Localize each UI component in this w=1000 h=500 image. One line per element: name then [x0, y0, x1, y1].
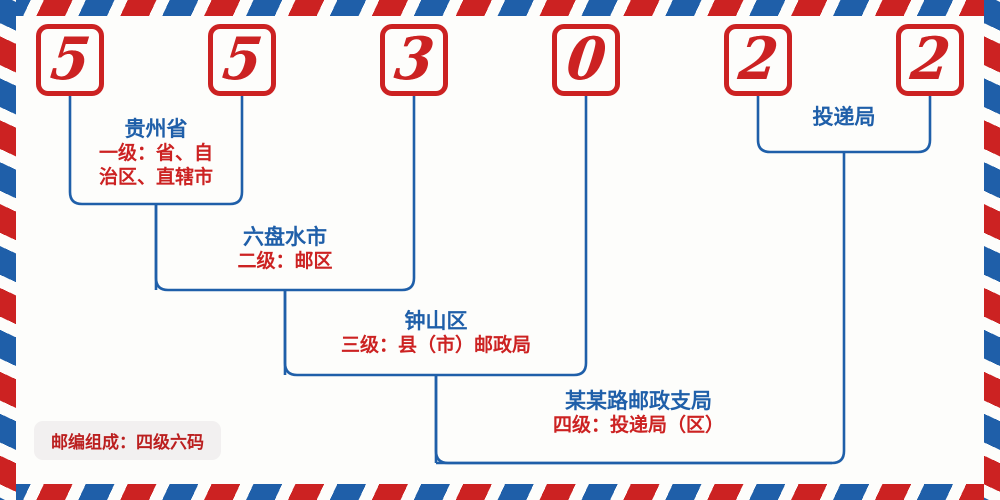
level-2-subtitle: 二级：邮区: [165, 250, 405, 274]
digit-glyph: 5: [220, 31, 265, 89]
level-2-title: 六盘水市: [165, 224, 405, 250]
postcode-diagram: 5 5 3 0 2 2 贵州省 一级：省、自治区、直辖市 六盘水市 二级：邮区 …: [0, 0, 1000, 500]
postcode-digit-1[interactable]: 5: [36, 24, 104, 96]
postcode-digit-2[interactable]: 5: [208, 24, 276, 96]
postcode-digit-5[interactable]: 2: [724, 24, 792, 96]
digit-glyph: 2: [736, 31, 781, 89]
digit-glyph: 2: [908, 31, 953, 89]
label-level-2: 六盘水市 二级：邮区: [165, 224, 405, 274]
level-3-subtitle: 三级：县（市）邮政局: [296, 334, 576, 358]
label-delivery-box: 投递局: [766, 104, 922, 130]
label-level-4: 某某路邮政支局 四级：投递局（区）: [446, 388, 831, 438]
level-1-title: 贵州省: [76, 116, 236, 142]
digit-glyph: 3: [392, 31, 437, 89]
level-1-subtitle-line-1: 一级：省、自: [99, 142, 213, 164]
level-3-title: 钟山区: [296, 308, 576, 334]
label-level-1: 贵州省 一级：省、自治区、直辖市: [76, 116, 236, 190]
postcode-digit-4[interactable]: 0: [552, 24, 620, 96]
digit-glyph: 0: [564, 31, 609, 89]
level-4-title: 某某路邮政支局: [446, 388, 831, 414]
label-level-3: 钟山区 三级：县（市）邮政局: [296, 308, 576, 358]
postcode-digit-3[interactable]: 3: [380, 24, 448, 96]
legend-badge: 邮编组成：四级六码: [34, 421, 221, 460]
delivery-box-title: 投递局: [766, 104, 922, 130]
digit-glyph: 5: [48, 31, 93, 89]
postcode-digit-6[interactable]: 2: [896, 24, 964, 96]
level-4-subtitle: 四级：投递局（区）: [446, 414, 831, 438]
level-1-subtitle: 一级：省、自治区、直辖市: [76, 142, 236, 190]
level-1-subtitle-line-2: 治区、直辖市: [99, 166, 213, 188]
